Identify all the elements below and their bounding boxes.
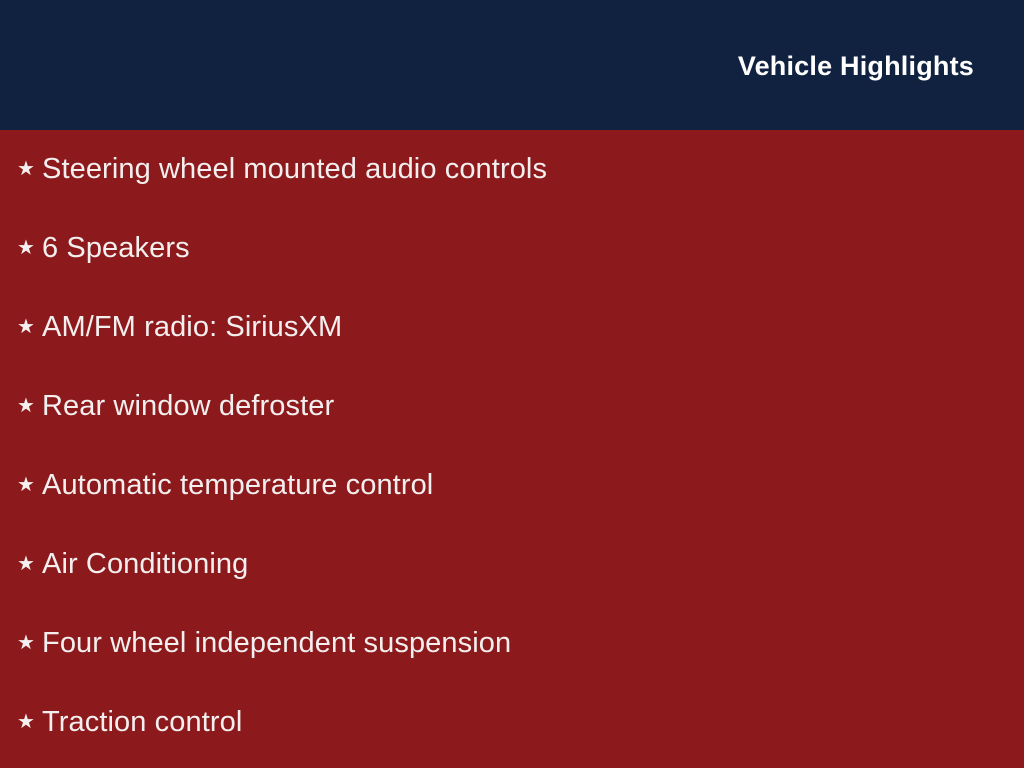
list-item: ★ AM/FM radio: SiriusXM [10, 312, 984, 391]
list-item-label: Rear window defroster [42, 391, 984, 421]
list-item-label: Four wheel independent suspension [42, 628, 984, 658]
list-item-label: AM/FM radio: SiriusXM [42, 312, 984, 342]
star-icon: ★ [10, 395, 42, 415]
star-icon: ★ [10, 711, 42, 731]
list-item: ★ Air Conditioning [10, 549, 984, 628]
list-item: ★ Rear window defroster [10, 391, 984, 470]
slide-body: ★ Steering wheel mounted audio controls … [0, 130, 1024, 768]
star-icon: ★ [10, 316, 42, 336]
slide-header: Vehicle Highlights [0, 0, 1024, 130]
star-icon: ★ [10, 474, 42, 494]
list-item-label: Air Conditioning [42, 549, 984, 579]
list-item-label: 6 Speakers [42, 233, 984, 263]
list-item: ★ 6 Speakers [10, 233, 984, 312]
list-item-label: Traction control [42, 707, 984, 737]
vehicle-highlights-list: ★ Steering wheel mounted audio controls … [10, 154, 984, 768]
slide: Vehicle Highlights ★ Steering wheel moun… [0, 0, 1024, 768]
list-item-label: Steering wheel mounted audio controls [42, 154, 984, 184]
star-icon: ★ [10, 158, 42, 178]
list-item-label: Automatic temperature control [42, 470, 984, 500]
star-icon: ★ [10, 553, 42, 573]
list-item: ★ Automatic temperature control [10, 470, 984, 549]
page-title: Vehicle Highlights [738, 52, 974, 82]
list-item: ★ Four wheel independent suspension [10, 628, 984, 707]
star-icon: ★ [10, 237, 42, 257]
list-item: ★ Steering wheel mounted audio controls [10, 154, 984, 233]
list-item: ★ Traction control [10, 707, 984, 768]
star-icon: ★ [10, 632, 42, 652]
